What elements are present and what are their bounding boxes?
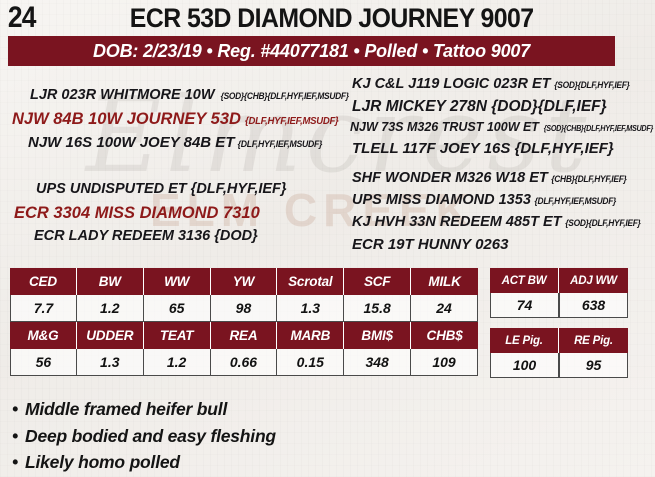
pedigree-name: KJ C&L J119 LOGIC 023R ET bbox=[352, 76, 551, 92]
pedigree-suffix: {DLF,HYF,IEF,MSUDF} bbox=[245, 116, 338, 127]
column-header: Scrotal bbox=[277, 268, 344, 295]
pedigree-line: ECR 19T HUNNY 0263 bbox=[352, 237, 508, 253]
table-cell: 348 bbox=[344, 349, 411, 376]
table-header-row: LE Pig. RE Pig. bbox=[490, 328, 628, 353]
bullet-icon: • bbox=[12, 449, 25, 476]
table-cell: 0.15 bbox=[277, 349, 344, 376]
table-row: 100 95 bbox=[490, 353, 628, 378]
pedigree-line: TLELL 117F JOEY 16S {DLF,HYF,IEF} bbox=[352, 141, 614, 157]
pedigree-line: LJR MICKEY 278N {DOD}{DLF,IEF} bbox=[352, 99, 607, 115]
pedigree-suffix: {SOD}{DLF,HYF,IEF} bbox=[554, 81, 629, 91]
notes-list: •Middle framed heifer bull •Deep bodied … bbox=[12, 396, 442, 476]
column-header: UDDER bbox=[77, 322, 144, 349]
pedigree-name: UPS UNDISPUTED ET {DLF,HYF,IEF} bbox=[36, 181, 287, 197]
pedigree-suffix: {SOD}{CHB}{DLF,HYF,IEF,MSUDF} bbox=[544, 125, 653, 133]
pedigree-name: SHF WONDER M326 W18 ET bbox=[352, 170, 548, 186]
lot-page: 24 ECR 53D DIAMOND JOURNEY 9007 DOB: 2/2… bbox=[0, 0, 655, 477]
pedigree-name: NJW 84B 10W JOURNEY 53D bbox=[12, 110, 241, 128]
actual-weights-table: ACT BW ADJ WW 74 638 bbox=[490, 268, 628, 318]
table-cell: 65 bbox=[144, 295, 211, 322]
pedigree-line: KJ HVH 33N REDEEM 485T ET{SOD}{DLF,HYF,I… bbox=[352, 215, 643, 230]
column-header: BMI$ bbox=[344, 322, 411, 349]
table-cell: 74 bbox=[490, 293, 559, 318]
column-header: ACT BW bbox=[490, 268, 559, 293]
pedigree-name: NJW 16S 100W JOEY 84B ET bbox=[28, 134, 234, 151]
column-header: REA bbox=[211, 322, 278, 349]
dob-registration-line: DOB: 2/23/19 • Reg. #44077181 • Polled •… bbox=[93, 41, 530, 62]
table-header-row: M&G UDDER TEAT REA MARB BMI$ CHB$ bbox=[10, 322, 478, 349]
pedigree-name: ECR LADY REDEEM 3136 {DOD} bbox=[34, 228, 258, 244]
table-cell: 1.2 bbox=[77, 295, 144, 322]
dob-banner: DOB: 2/23/19 • Reg. #44077181 • Polled •… bbox=[8, 36, 615, 66]
column-header: WW bbox=[144, 268, 211, 295]
note-text: Likely homo polled bbox=[25, 452, 180, 472]
pedigree-name: TLELL 117F JOEY 16S {DLF,HYF,IEF} bbox=[352, 140, 614, 157]
pedigree-line-sire: NJW 84B 10W JOURNEY 53D{DLF,HYF,IEF,MSUD… bbox=[12, 111, 342, 128]
table-cell: 1.2 bbox=[144, 349, 211, 376]
table-cell: 100 bbox=[490, 353, 559, 378]
pedigree-line: NJW 73S M326 TRUST 100W ET{SOD}{CHB}{DLF… bbox=[350, 121, 655, 134]
table-cell: 1.3 bbox=[277, 295, 344, 322]
column-header: YW bbox=[211, 268, 278, 295]
pedigree-suffix: {DLF,HYF,IEF,MSUDF} bbox=[238, 140, 322, 150]
bullet-icon: • bbox=[12, 396, 25, 423]
epd-table: CED BW WW YW Scrotal SCF MILK 7.7 1.2 65… bbox=[10, 268, 478, 376]
pedigree-line: KJ C&L J119 LOGIC 023R ET{SOD}{DLF,HYF,I… bbox=[352, 77, 632, 92]
pigment-table: LE Pig. RE Pig. 100 95 bbox=[490, 328, 628, 378]
note-text: Middle framed heifer bull bbox=[25, 399, 227, 419]
list-item: •Middle framed heifer bull bbox=[12, 396, 442, 423]
table-cell: 638 bbox=[559, 293, 628, 318]
table-row: 74 638 bbox=[490, 293, 628, 318]
list-item: •Likely homo polled bbox=[12, 449, 442, 476]
pedigree-line: ECR LADY REDEEM 3136 {DOD} bbox=[34, 229, 258, 244]
column-header: MARB bbox=[277, 322, 344, 349]
table-cell: 1.3 bbox=[77, 349, 144, 376]
lot-number: 24 bbox=[0, 1, 36, 35]
page-title: ECR 53D DIAMOND JOURNEY 9007 bbox=[65, 3, 630, 34]
pedigree-line: UPS MISS DIAMOND 1353{DLF,HYF,IEF,MSUDF} bbox=[352, 193, 620, 208]
column-header: ADJ WW bbox=[559, 268, 628, 293]
table-cell: 24 bbox=[411, 295, 478, 322]
pedigree-name: LJR MICKEY 278N {DOD}{DLF,IEF} bbox=[352, 98, 607, 115]
pedigree-suffix: {CHB}{DLF,HYF,IEF} bbox=[551, 175, 626, 185]
column-header: M&G bbox=[10, 322, 77, 349]
table-cell: 0.66 bbox=[211, 349, 278, 376]
pedigree-suffix: {SOD}{DLF,HYF,IEF} bbox=[565, 219, 640, 229]
column-header: RE Pig. bbox=[559, 328, 628, 353]
pedigree-name: ECR 3304 MISS DIAMOND 7310 bbox=[14, 204, 260, 222]
list-item: •Deep bodied and easy fleshing bbox=[12, 423, 442, 450]
pedigree-grandparents-column: KJ C&L J119 LOGIC 023R ET{SOD}{DLF,HYF,I… bbox=[344, 72, 655, 262]
pedigree-suffix: {DLF,HYF,IEF,MSUDF} bbox=[534, 197, 616, 207]
pedigree-name: ECR 19T HUNNY 0263 bbox=[352, 236, 508, 253]
column-header: SCF bbox=[344, 268, 411, 295]
pedigree-name: LJR 023R WHITMORE 10W bbox=[30, 87, 215, 103]
pedigree-line: SHF WONDER M326 W18 ET{CHB}{DLF,HYF,IEF} bbox=[352, 171, 630, 186]
table-cell: 109 bbox=[411, 349, 478, 376]
column-header: CHB$ bbox=[411, 322, 478, 349]
table-cell: 7.7 bbox=[10, 295, 77, 322]
column-header: MILK bbox=[411, 268, 478, 295]
column-header: TEAT bbox=[144, 322, 211, 349]
bullet-icon: • bbox=[12, 423, 25, 450]
column-header: BW bbox=[77, 268, 144, 295]
table-header-row: ACT BW ADJ WW bbox=[490, 268, 628, 293]
pedigree-suffix: {SOD}{CHB}{DLF,HYF,IEF,MSUDF} bbox=[220, 92, 348, 102]
pedigree-line: UPS UNDISPUTED ET {DLF,HYF,IEF} bbox=[36, 182, 287, 197]
table-header-row: CED BW WW YW Scrotal SCF MILK bbox=[10, 268, 478, 295]
column-header: CED bbox=[10, 268, 77, 295]
table-cell: 95 bbox=[559, 353, 628, 378]
pedigree-name: NJW 73S M326 TRUST 100W ET bbox=[350, 120, 539, 134]
table-cell: 56 bbox=[10, 349, 77, 376]
pedigree-line-dam: ECR 3304 MISS DIAMOND 7310 bbox=[14, 205, 260, 222]
header-title-row: 24 ECR 53D DIAMOND JOURNEY 9007 bbox=[0, 0, 655, 36]
column-header: LE Pig. bbox=[490, 328, 559, 353]
pedigree-name: UPS MISS DIAMOND 1353 bbox=[352, 192, 531, 208]
pedigree-parents-column: LJR 023R WHITMORE 10W{SOD}{CHB}{DLF,HYF,… bbox=[0, 72, 344, 262]
table-row: 56 1.3 1.2 0.66 0.15 348 109 bbox=[10, 349, 478, 376]
table-cell: 98 bbox=[211, 295, 278, 322]
note-text: Deep bodied and easy fleshing bbox=[25, 426, 276, 446]
table-cell: 15.8 bbox=[344, 295, 411, 322]
pedigree-line: NJW 16S 100W JOEY 84B ET{DLF,HYF,IEF,MSU… bbox=[28, 135, 326, 151]
pedigree-section: LJR 023R WHITMORE 10W{SOD}{CHB}{DLF,HYF,… bbox=[0, 72, 655, 262]
pedigree-name: KJ HVH 33N REDEEM 485T ET bbox=[352, 214, 562, 230]
pedigree-line: LJR 023R WHITMORE 10W{SOD}{CHB}{DLF,HYF,… bbox=[30, 88, 354, 103]
table-row: 7.7 1.2 65 98 1.3 15.8 24 bbox=[10, 295, 478, 322]
